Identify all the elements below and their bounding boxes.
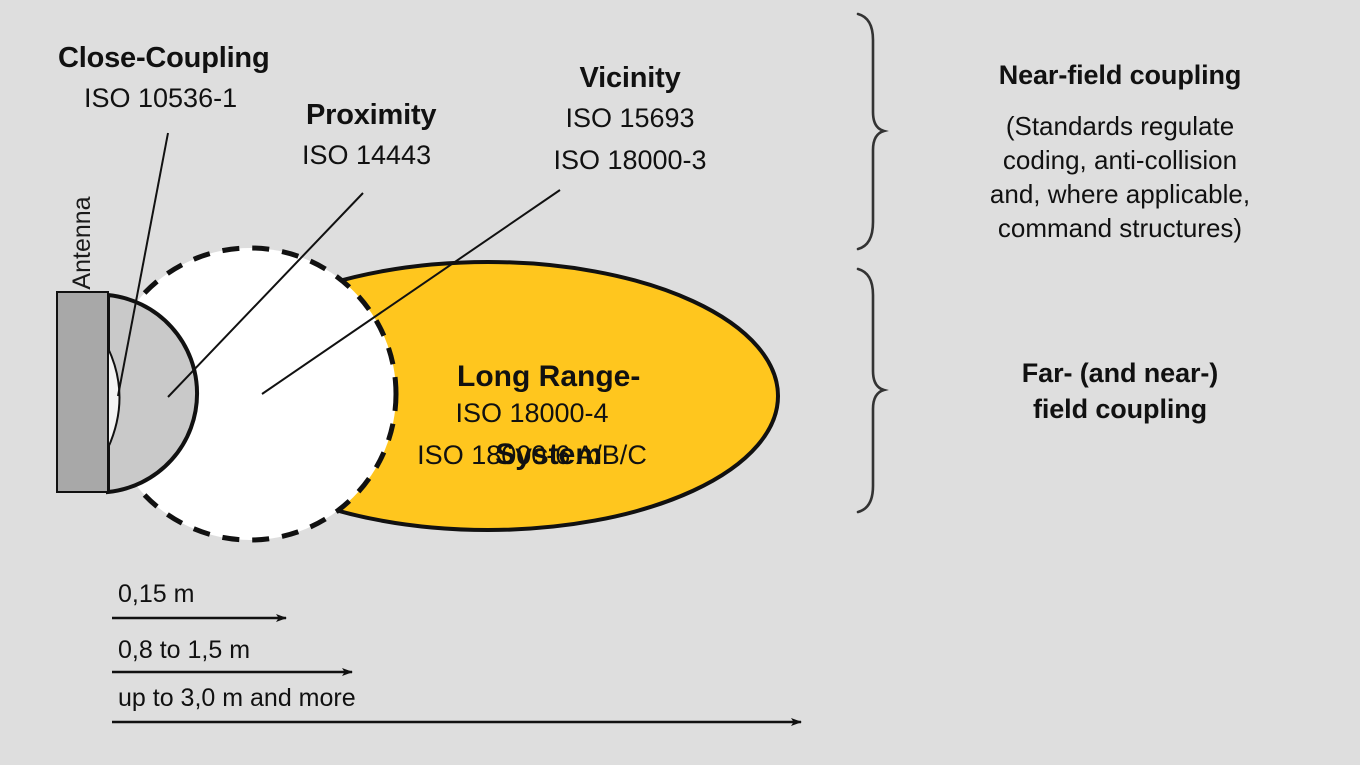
near-field-body-line-4: command structures): [920, 211, 1320, 245]
vicinity-standard-2: ISO 18000-3: [553, 145, 706, 176]
proximity-standard: ISO 14443: [302, 140, 431, 171]
near-field-body: (Standards regulate coding, anti-collisi…: [920, 109, 1320, 245]
far-field-coupling-block: Far- (and near-) field coupling: [920, 355, 1320, 445]
close-coupling-standard: ISO 10536-1: [84, 83, 237, 114]
near-field-body-line-2: coding, anti-collision: [920, 143, 1320, 177]
diagram-canvas: Close-Coupling ISO 10536-1 Proximity ISO…: [0, 0, 1360, 765]
antenna-label: Antenna: [57, 143, 108, 343]
close-coupling-title: Close-Coupling: [58, 42, 269, 75]
brace-near-field: [858, 14, 884, 249]
near-field-body-line-3: and, where applicable,: [920, 177, 1320, 211]
long-range-standard-1: ISO 18000-4: [455, 398, 608, 429]
vicinity-title: Vicinity: [579, 62, 680, 95]
distance-label-2: up to 3,0 m and more: [118, 684, 356, 713]
long-range-title-line-1: Long Range-: [457, 360, 640, 393]
distance-label-0: 0,15 m: [118, 580, 194, 609]
brace-far-field: [858, 269, 884, 512]
long-range-standard-2: ISO 18000-6 A/B/C: [417, 440, 647, 471]
near-field-coupling-block: Near-field coupling (Standards regulate …: [920, 60, 1320, 245]
vicinity-standard-1: ISO 15693: [565, 103, 694, 134]
distance-label-1: 0,8 to 1,5 m: [118, 636, 250, 665]
proximity-title: Proximity: [306, 99, 436, 132]
near-field-body-line-1: (Standards regulate: [920, 109, 1320, 143]
far-field-heading: Far- (and near-) field coupling: [920, 355, 1320, 427]
near-field-heading: Near-field coupling: [920, 60, 1320, 91]
far-field-heading-line-2: field coupling: [920, 391, 1320, 427]
far-field-heading-line-1: Far- (and near-): [920, 355, 1320, 391]
